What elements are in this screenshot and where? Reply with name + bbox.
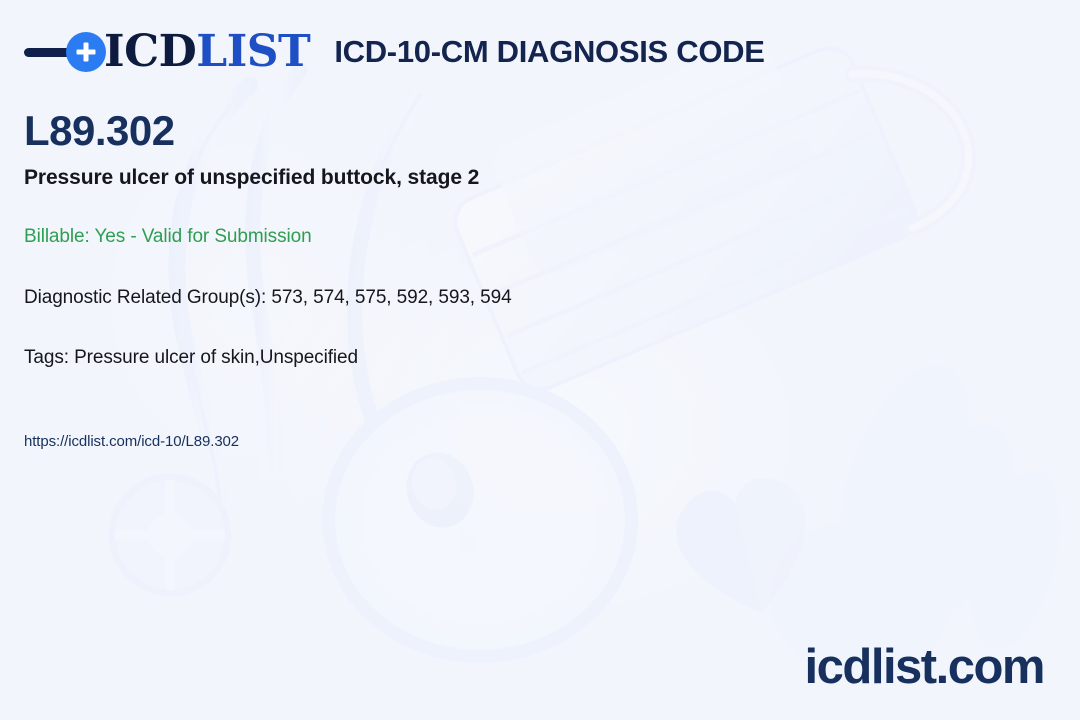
- footer-brand: icdlist.com: [805, 643, 1044, 692]
- header: ICDLIST ICD-10-CM DIAGNOSIS CODE: [24, 26, 765, 78]
- source-url[interactable]: https://icdlist.com/icd-10/L89.302: [24, 433, 924, 450]
- logo-word-list: LIST: [196, 26, 310, 77]
- icdlist-logo[interactable]: ICDLIST: [24, 26, 310, 78]
- billable-status: Billable: Yes - Valid for Submission: [24, 226, 924, 248]
- tags-list: Tags: Pressure ulcer of skin,Unspecified: [24, 347, 924, 369]
- icd-description: Pressure ulcer of unspecified buttock, s…: [24, 166, 924, 190]
- icd-code: L89.302: [24, 108, 924, 154]
- page-title: ICD-10-CM DIAGNOSIS CODE: [334, 34, 764, 70]
- code-details: L89.302 Pressure ulcer of unspecified bu…: [24, 108, 924, 450]
- dash-icon: [24, 48, 72, 57]
- logo-word-icd: ICD: [104, 26, 196, 77]
- drg-list: Diagnostic Related Group(s): 573, 574, 5…: [24, 287, 924, 309]
- logo-wordmark: ICDLIST: [104, 30, 310, 74]
- plus-circle-icon: [66, 32, 106, 72]
- icd-code-card: ICDLIST ICD-10-CM DIAGNOSIS CODE L89.302…: [0, 0, 1080, 720]
